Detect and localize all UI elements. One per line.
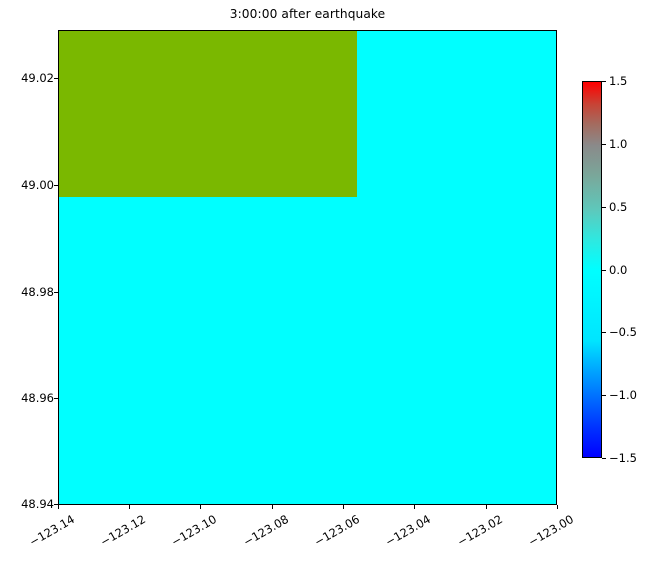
y-tick-4: 48.94: [0, 504, 54, 505]
x-tick-label: −123.04: [357, 512, 433, 564]
y-tick-label: 49.00: [2, 178, 54, 192]
heatmap-plot-area[interactable]: [58, 30, 557, 505]
x-tick-label: −123.12: [72, 512, 148, 564]
y-tick-label: 48.96: [2, 391, 54, 405]
x-tick-mark-3: [272, 505, 273, 509]
y-tick-1: 49.00: [0, 185, 54, 186]
colorbar-tick-label: 1.5: [609, 74, 627, 88]
x-tick-mark-4: [343, 505, 344, 509]
colorbar-tick-label: 0.0: [609, 263, 627, 277]
colorbar-tick-mark-5: [602, 395, 606, 396]
x-tick-label: −123.06: [286, 512, 362, 564]
y-tick-3: 48.96: [0, 398, 54, 399]
figure-canvas: 3:00:00 after earthquake 49.02 49.00 48.…: [0, 0, 658, 560]
x-tick-mark-2: [200, 505, 201, 509]
colorbar-tick-label: 1.0: [609, 137, 627, 151]
x-tick-mark-0: [58, 505, 59, 509]
colorbar-tick-mark-2: [602, 207, 606, 208]
x-tick-mark-5: [414, 505, 415, 509]
colorbar-tick-mark-3: [602, 270, 606, 271]
x-tick-mark-7: [557, 505, 558, 509]
colorbar-tick-mark-1: [602, 144, 606, 145]
y-tick-2: 48.98: [0, 292, 54, 293]
colorbar-tick-mark-6: [602, 458, 606, 459]
colorbar-tick-label: −1.0: [609, 388, 637, 402]
heatmap-cell-highlighted-region: [59, 31, 357, 197]
x-tick-mark-6: [486, 505, 487, 509]
y-tick-label: 49.02: [2, 71, 54, 85]
chart-title: 3:00:00 after earthquake: [58, 7, 557, 21]
x-tick-label: −123.00: [500, 512, 576, 564]
x-tick-mark-1: [129, 505, 130, 509]
x-tick-label: −123.02: [429, 512, 505, 564]
colorbar[interactable]: [582, 81, 602, 458]
x-tick-label: −123.10: [143, 512, 219, 564]
x-tick-label: −123.14: [1, 512, 77, 564]
x-tick-label: −123.08: [215, 512, 291, 564]
colorbar-tick-label: 0.5: [609, 200, 627, 214]
colorbar-tick-label: −1.5: [609, 451, 637, 465]
y-tick-0: 49.02: [0, 78, 54, 79]
y-tick-label: 48.94: [2, 497, 54, 511]
colorbar-tick-mark-0: [602, 81, 606, 82]
y-tick-label: 48.98: [2, 285, 54, 299]
colorbar-tick-mark-4: [602, 332, 606, 333]
colorbar-tick-label: −0.5: [609, 325, 637, 339]
